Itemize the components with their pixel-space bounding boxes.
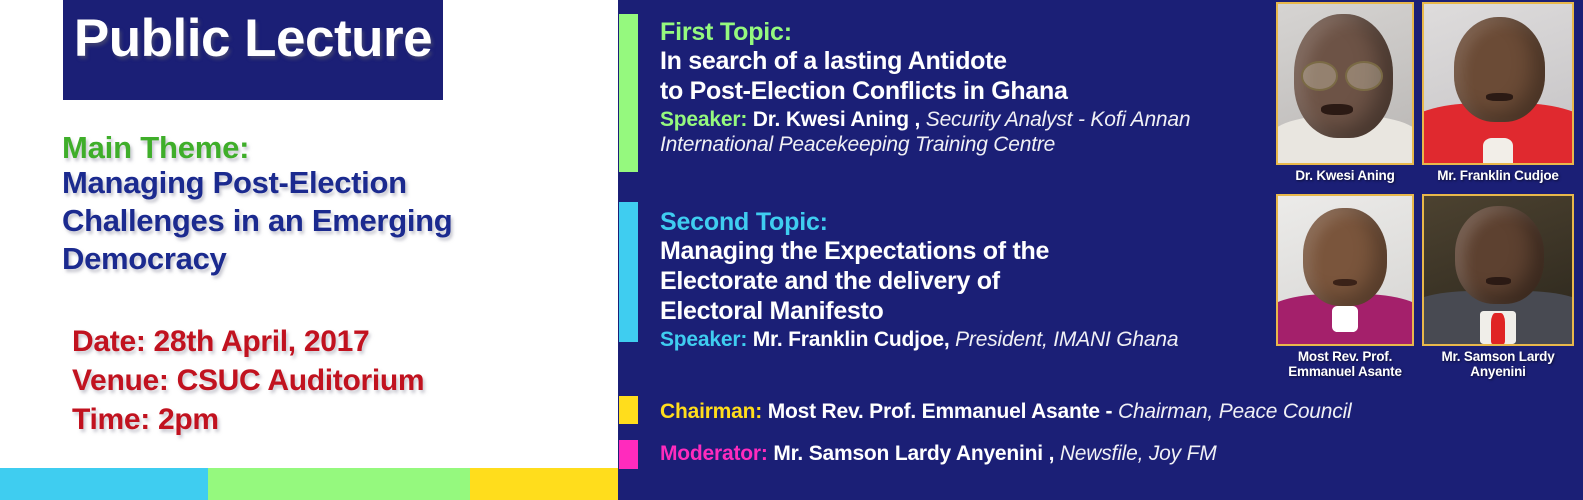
first-topic-speaker-role-line-2: International Peacekeeping Training Cent… <box>660 133 1280 158</box>
portrait-mouth <box>1486 93 1513 101</box>
first-topic-speaker-key: Speaker: <box>660 108 747 131</box>
portrait-head <box>1454 17 1546 122</box>
second-topic-block: Second Topic: Managing the Expectations … <box>660 208 1280 353</box>
portrait-mouth <box>1321 104 1353 115</box>
main-theme-body: Managing Post-Election Challenges in an … <box>62 164 602 277</box>
second-topic-title-line-3: Electoral Manifesto <box>660 296 1280 326</box>
chairman-row: Chairman: Most Rev. Prof. Emmanuel Asant… <box>660 399 1352 424</box>
strip-segment-green <box>208 468 470 500</box>
second-topic-title-line-2: Electorate and the delivery of <box>660 266 1280 296</box>
first-topic-title-line-2: to Post-Election Conflicts in Ghana <box>660 76 1280 106</box>
chairman-key: Chairman: <box>660 400 762 423</box>
accent-bar-chairman <box>619 396 638 424</box>
moderator-name: Mr. Samson Lardy Anyenini , <box>773 442 1054 465</box>
photo-caption-franklin-cudjoe: Mr. Franklin Cudjoe <box>1422 169 1574 184</box>
accent-bar-moderator <box>619 440 638 469</box>
portrait-mouth <box>1333 279 1357 286</box>
first-topic-speaker: Speaker: Dr. Kwesi Aning , Security Anal… <box>660 108 1280 158</box>
main-theme-block: Main Theme: Managing Post-Election Chall… <box>62 131 602 278</box>
portrait-collar <box>1332 306 1359 333</box>
photo-caption-line-1: Mr. Samson Lardy <box>1422 350 1574 365</box>
photo-frame-samson-anyenini <box>1422 194 1574 346</box>
portrait-head <box>1303 208 1386 306</box>
first-topic-label: First Topic: <box>660 18 1280 46</box>
second-topic-title: Managing the Expectations of the Elector… <box>660 236 1280 326</box>
photo-caption-emmanuel-asante: Most Rev. Prof. Emmanuel Asante <box>1276 350 1414 380</box>
title-box: Public Lecture <box>63 0 443 100</box>
photo-caption-line-1: Most Rev. Prof. <box>1276 350 1414 365</box>
chairman-org: Chairman, Peace Council <box>1118 400 1352 423</box>
second-topic-speaker-key: Speaker: <box>660 328 747 351</box>
portrait-glasses-left <box>1301 61 1339 90</box>
moderator-key: Moderator: <box>660 442 768 465</box>
photo-frame-kwesi-aning <box>1276 2 1414 165</box>
event-details-block: Date: 28th April, 2017 Venue: CSUC Audit… <box>72 322 612 439</box>
first-topic-title-line-1: In search of a lasting Antidote <box>660 46 1280 76</box>
portrait-tie <box>1491 313 1506 344</box>
photo-frame-emmanuel-asante <box>1276 194 1414 346</box>
accent-bar-first-topic <box>619 14 638 172</box>
photo-frame-franklin-cudjoe <box>1422 2 1574 165</box>
first-topic-speaker-name: Dr. Kwesi Aning , <box>753 108 920 131</box>
right-panel: First Topic: In search of a lasting Anti… <box>618 0 1583 500</box>
main-theme-label: Main Theme: <box>62 131 602 164</box>
accent-bar-second-topic <box>619 202 638 342</box>
second-topic-title-line-1: Managing the Expectations of the <box>660 236 1280 266</box>
second-topic-speaker-role: President, IMANI Ghana <box>955 328 1178 351</box>
photo-caption-line-2: Anyenini <box>1422 365 1574 380</box>
photo-card-franklin-cudjoe: Mr. Franklin Cudjoe <box>1422 2 1574 184</box>
main-theme-line-3: Democracy <box>62 240 602 278</box>
second-topic-speaker-name: Mr. Franklin Cudjoe, <box>753 328 950 351</box>
strip-segment-yellow <box>470 468 618 500</box>
event-time: Time: 2pm <box>72 400 612 439</box>
portrait-head <box>1455 206 1544 304</box>
photo-card-kwesi-aning: Dr. Kwesi Aning <box>1276 2 1414 184</box>
moderator-org: Newsfile, Joy FM <box>1060 442 1217 465</box>
bottom-color-strip <box>0 468 618 500</box>
strip-segment-cyan <box>0 468 208 500</box>
photo-caption-kwesi-aning: Dr. Kwesi Aning <box>1276 169 1414 184</box>
main-theme-line-1: Managing Post-Election <box>62 164 602 202</box>
chairman-name: Most Rev. Prof. Emmanuel Asante - <box>768 400 1113 423</box>
left-panel: Public Lecture Main Theme: Managing Post… <box>0 0 618 500</box>
moderator-row: Moderator: Mr. Samson Lardy Anyenini , N… <box>660 441 1217 466</box>
photo-card-emmanuel-asante: Most Rev. Prof. Emmanuel Asante <box>1276 194 1414 380</box>
first-topic-title: In search of a lasting Antidote to Post-… <box>660 46 1280 106</box>
event-venue: Venue: CSUC Auditorium <box>72 361 612 400</box>
portrait-collar <box>1483 138 1513 163</box>
page-title: Public Lecture <box>63 12 443 65</box>
photo-caption-line-2: Emmanuel Asante <box>1276 365 1414 380</box>
portrait-glasses-right <box>1345 61 1383 90</box>
first-topic-speaker-role-line-1: Security Analyst - Kofi Annan <box>926 108 1191 131</box>
event-date: Date: 28th April, 2017 <box>72 322 612 361</box>
portrait-mouth <box>1486 277 1511 284</box>
main-theme-line-2: Challenges in an Emerging <box>62 202 602 240</box>
public-lecture-banner: Public Lecture Main Theme: Managing Post… <box>0 0 1583 500</box>
second-topic-speaker: Speaker: Mr. Franklin Cudjoe, President,… <box>660 328 1280 353</box>
first-topic-block: First Topic: In search of a lasting Anti… <box>660 18 1280 158</box>
photo-caption-samson-anyenini: Mr. Samson Lardy Anyenini <box>1422 350 1574 380</box>
photo-card-samson-anyenini: Mr. Samson Lardy Anyenini <box>1422 194 1574 380</box>
second-topic-label: Second Topic: <box>660 208 1280 236</box>
